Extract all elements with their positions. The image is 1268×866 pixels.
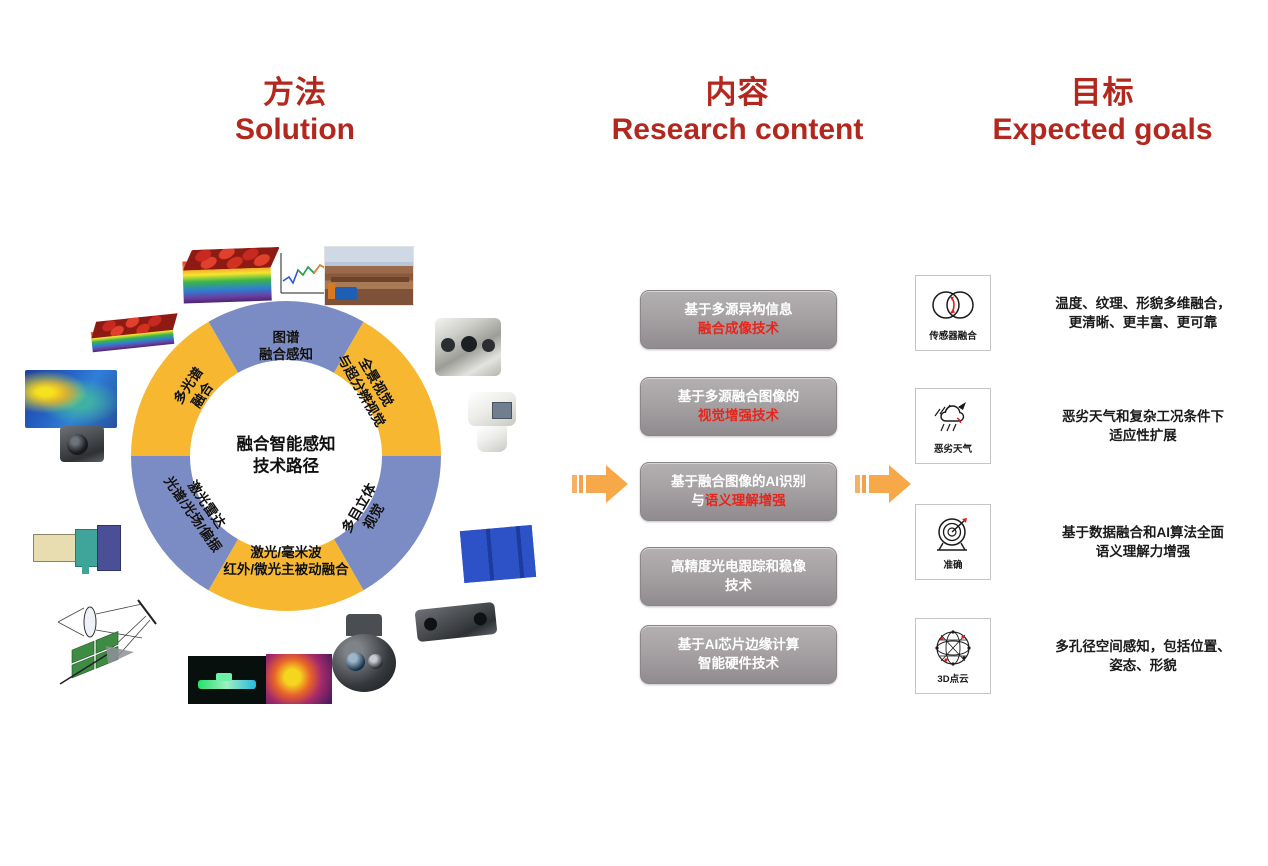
content-box-ai-chip-edge-computing[interactable]: 基于AI芯片边缘计算 智能硬件技术 [640,625,837,684]
content-box-fusion-imaging[interactable]: 基于多源异构信息 融合成像技术 [640,290,837,349]
column-header-expected-goals-en: Expected goals [960,113,1245,147]
goal-caption-severe-weather: 恶劣天气 [934,441,972,455]
arrow-right-icon-1 [572,462,630,506]
technology-path-donut: 图谱 融合感知 全景视觉 与超分辨视觉 多目立体 视觉 激光/毫米波 红外/微光… [126,296,446,616]
goal-row-severe-weather[interactable]: 恶劣天气 恶劣天气和复杂工况条件下 适应性扩展 [915,388,1259,464]
thermal-infrared-image [25,370,117,428]
goal-icon-box-accuracy: 准确 [915,504,991,580]
content-box-optoelectronic-tracking[interactable]: 高精度光电跟踪和稳像 技术 [640,547,837,606]
goal-icon-box-sensor-fusion: 传感器融合 [915,275,991,351]
column-header-expected-goals: 目标 Expected goals [960,76,1245,146]
content-box-fusion-imaging-line1: 基于多源异构信息 [685,302,793,317]
goal-icon-box-severe-weather: 恶劣天气 [915,388,991,464]
goal-row-sensor-fusion[interactable]: 传感器融合 温度、纹理、形貌多维融合， 更清晰、更丰富、更可靠 [915,275,1259,351]
arrow-solution-to-content [572,462,630,511]
donut-label-spectral-fusion-sensing: 图谱 融合感知 [231,330,341,363]
content-box-optoelectronic-tracking-text: 高精度光电跟踪和稳像 技术 [671,558,806,595]
content-box-optoelectronic-tracking-line1: 高精度光电跟踪和稳像 [671,559,806,574]
content-box-visual-enhancement-text: 基于多源融合图像的 视觉增强技术 [678,388,800,425]
arrow-right-icon-2 [855,462,913,506]
goal-text-point-cloud: 多孔径空间感知，包括位置、 姿态、形貌 [1027,637,1259,675]
arrow-content-to-goals [855,462,913,511]
content-box-visual-enhancement[interactable]: 基于多源融合图像的 视觉增强技术 [640,377,837,436]
goal-icon-box-point-cloud: 3D点云 [915,618,991,694]
content-box-visual-enhancement-line1: 基于多源融合图像的 [678,389,800,404]
content-box-ai-chip-edge-computing-line2: 智能硬件技术 [698,656,779,671]
eo-ir-gimbal-turret-image [332,614,396,702]
goal-text-sensor-fusion: 温度、纹理、形貌多维融合， 更清晰、更丰富、更可靠 [1027,294,1259,332]
thermal-scene-image [266,654,332,704]
sensor-fusion-icon-svg [930,289,976,321]
diagram-canvas: 方法 Solution 内容 Research content 目标 Expec… [0,0,1268,866]
target-accuracy-icon [932,512,974,556]
column-header-solution: 方法 Solution [180,76,410,146]
point-cloud-icon [932,626,974,670]
column-header-research-content-cn: 内容 [595,76,880,111]
content-box-ai-recognition[interactable]: 基于融合图像的AI识别 与语义理解增强 [640,462,837,521]
column-header-research-content-en: Research content [595,113,880,147]
goal-text-severe-weather: 恶劣天气和复杂工况条件下 适应性扩展 [1027,407,1259,445]
content-box-fusion-imaging-text: 基于多源异构信息 融合成像技术 [685,301,793,338]
column-header-solution-cn: 方法 [180,76,410,111]
content-box-optoelectronic-tracking-line2: 技术 [725,578,752,593]
content-box-ai-recognition-text: 基于融合图像的AI识别 与语义理解增强 [671,473,806,510]
goal-row-point-cloud[interactable]: 3D点云 多孔径空间感知，包括位置、 姿态、形貌 [915,618,1259,694]
goal-row-accuracy[interactable]: 准确 基于数据融合和AI算法全面 语义理解力增强 [915,504,1259,580]
content-box-ai-recognition-line2-prefix: 与 [691,493,705,508]
ptz-camera-image [466,392,518,454]
donut-center-label: 融合智能感知 技术路径 [191,434,381,479]
target-accuracy-icon-svg [932,516,974,552]
compact-camera-image [60,426,104,462]
sensor-fusion-icon [930,283,976,327]
column-header-expected-goals-cn: 目标 [960,76,1245,111]
goal-caption-accuracy: 准确 [943,557,962,571]
goal-caption-point-cloud: 3D点云 [937,671,968,685]
column-header-research-content: 内容 Research content [595,76,880,146]
content-box-visual-enhancement-line2: 视觉增强技术 [698,408,779,423]
content-box-ai-chip-edge-computing-line1: 基于AI芯片边缘计算 [678,637,800,652]
content-box-ai-recognition-line2: 语义理解增强 [705,493,786,508]
night-vision-scene-image [188,656,266,704]
content-box-ai-chip-edge-computing-text: 基于AI芯片边缘计算 智能硬件技术 [678,636,800,673]
severe-weather-icon-svg [932,401,974,435]
goal-caption-sensor-fusion: 传感器融合 [929,328,977,342]
goal-text-accuracy: 基于数据融合和AI算法全面 语义理解力增强 [1027,523,1259,561]
optical-module-schematic [33,522,125,574]
structured-scene-image [460,525,536,583]
content-box-fusion-imaging-line2: 融合成像技术 [698,321,779,336]
severe-weather-icon [932,396,974,440]
content-box-ai-recognition-line1: 基于融合图像的AI识别 [671,474,806,489]
point-cloud-icon-svg [932,627,974,669]
column-header-solution-en: Solution [180,113,410,147]
